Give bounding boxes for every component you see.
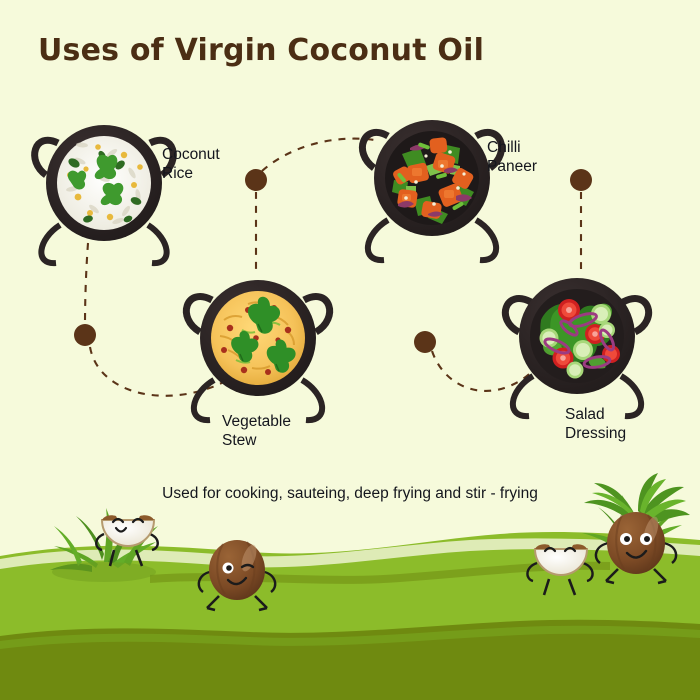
dish-label-salad-dressing: Salad Dressing [565, 405, 626, 443]
dot-middle-right [414, 331, 436, 353]
dish-label-coconut-rice: Coconut Rice [162, 145, 220, 183]
dish-label-vegetable-stew: Vegetable Stew [222, 412, 291, 450]
scenery-background [0, 0, 700, 700]
infographic-canvas: Uses of Virgin Coconut Oil Coconut Rice … [0, 0, 700, 700]
dot-left [74, 324, 96, 346]
usage-caption: Used for cooking, sauteing, deep frying … [0, 485, 700, 503]
bowl-of-salad-icon [505, 278, 648, 416]
dot-upper-right [570, 169, 592, 191]
bowl-of-coconut-rice-icon [35, 125, 174, 263]
dot-upper-middle [245, 169, 267, 191]
bowl-of-chilli-paneer-icon [362, 120, 501, 260]
bowl-of-vegetable-stew-icon [186, 280, 329, 420]
dish-label-chilli-paneer: Chilli Paneer [487, 138, 537, 176]
page-title: Uses of Virgin Coconut Oil [38, 33, 484, 68]
